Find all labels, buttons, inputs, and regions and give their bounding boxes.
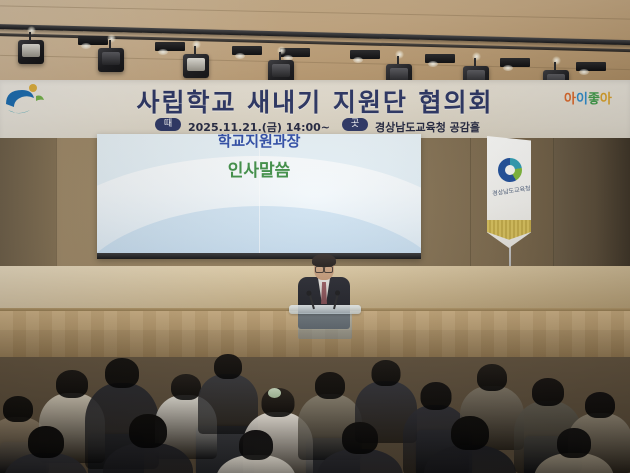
- auditorium-photo: 사립학교 새내기 지원단 협의회 때 2025.11.21.(금) 14:00~…: [0, 0, 630, 473]
- banner-title: 사립학교 새내기 지원단 협의회: [0, 83, 630, 119]
- slogan-char-4: 아: [600, 92, 612, 107]
- led-bar-fixture: [232, 46, 262, 55]
- audience-member: [4, 426, 88, 473]
- audience-member-head: [342, 422, 378, 454]
- led-bar-fixture: [500, 58, 530, 67]
- audience-member-head: [105, 358, 139, 388]
- when-pill: 때: [155, 118, 181, 131]
- audience-member: [424, 416, 516, 473]
- screen-line-1: 학교지원과장: [97, 134, 421, 151]
- glasses-icon: [315, 265, 333, 271]
- audience-member: [317, 422, 403, 473]
- where-pill: 곳: [342, 118, 368, 131]
- audience-member-head: [451, 416, 489, 450]
- screen-center-seam: [259, 134, 260, 259]
- audience-member-head: [315, 372, 345, 399]
- wall-panel-seam: [553, 138, 554, 268]
- wall-panel-seam: [470, 138, 471, 268]
- audience-member-head: [585, 392, 615, 418]
- audience-member-head: [557, 428, 591, 458]
- slogan-char-3: 좋: [588, 92, 600, 107]
- banner-meta-row: 때 2025.11.21.(금) 14:00~ 곳 경상남도교육청 공감홀: [0, 115, 630, 135]
- wall-panel-seam: [56, 138, 57, 268]
- projection-screen: 학교지원과장 인사말씀: [97, 134, 421, 259]
- slogan-char-2: 이: [576, 92, 588, 107]
- audience-member: [216, 430, 296, 473]
- led-bar-fixture: [155, 42, 185, 51]
- audience-area: [0, 330, 630, 473]
- audience-member-head: [239, 430, 273, 460]
- podium-top-surface: [289, 305, 361, 314]
- screen-line-2: 인사말씀: [97, 156, 421, 181]
- led-bar-fixture: [350, 50, 380, 59]
- audience-member-head: [171, 374, 201, 400]
- wall-right-dark-panel: [553, 138, 630, 270]
- audience-member-head: [3, 396, 33, 422]
- flag-emblem-icon: [498, 158, 522, 182]
- slogan-logo: 아이좋아: [564, 88, 628, 122]
- event-banner: 사립학교 새내기 지원단 협의회 때 2025.11.21.(금) 14:00~…: [0, 80, 630, 142]
- spotlight-fixture: [98, 40, 124, 74]
- wall-left-section: [0, 138, 56, 268]
- when-value: 2025.11.21.(금) 14:00~: [188, 119, 330, 135]
- screen-bottom-bar: [97, 253, 421, 259]
- audience-member-head: [56, 370, 88, 398]
- audience-member: [534, 428, 614, 473]
- where-value: 경상남도교육청 공감홀: [375, 119, 480, 135]
- audience-member-head: [372, 360, 401, 386]
- led-bar-fixture: [425, 54, 455, 63]
- slogan-char-1: 아: [564, 92, 576, 107]
- led-bar-fixture: [576, 62, 606, 71]
- audience-member-head: [477, 364, 507, 391]
- spotlight-fixture: [18, 32, 44, 66]
- audience-member-head: [421, 382, 452, 410]
- audience-member-head: [28, 426, 64, 458]
- spotlight-fixture: [183, 46, 209, 80]
- audience-member-head: [532, 378, 564, 406]
- audience-member: [103, 414, 193, 473]
- hair-scrunchie: [268, 388, 281, 398]
- audience-member-head: [214, 354, 242, 379]
- audience-member-head: [129, 414, 167, 448]
- gyeongnam-education-logo-icon: [2, 82, 46, 120]
